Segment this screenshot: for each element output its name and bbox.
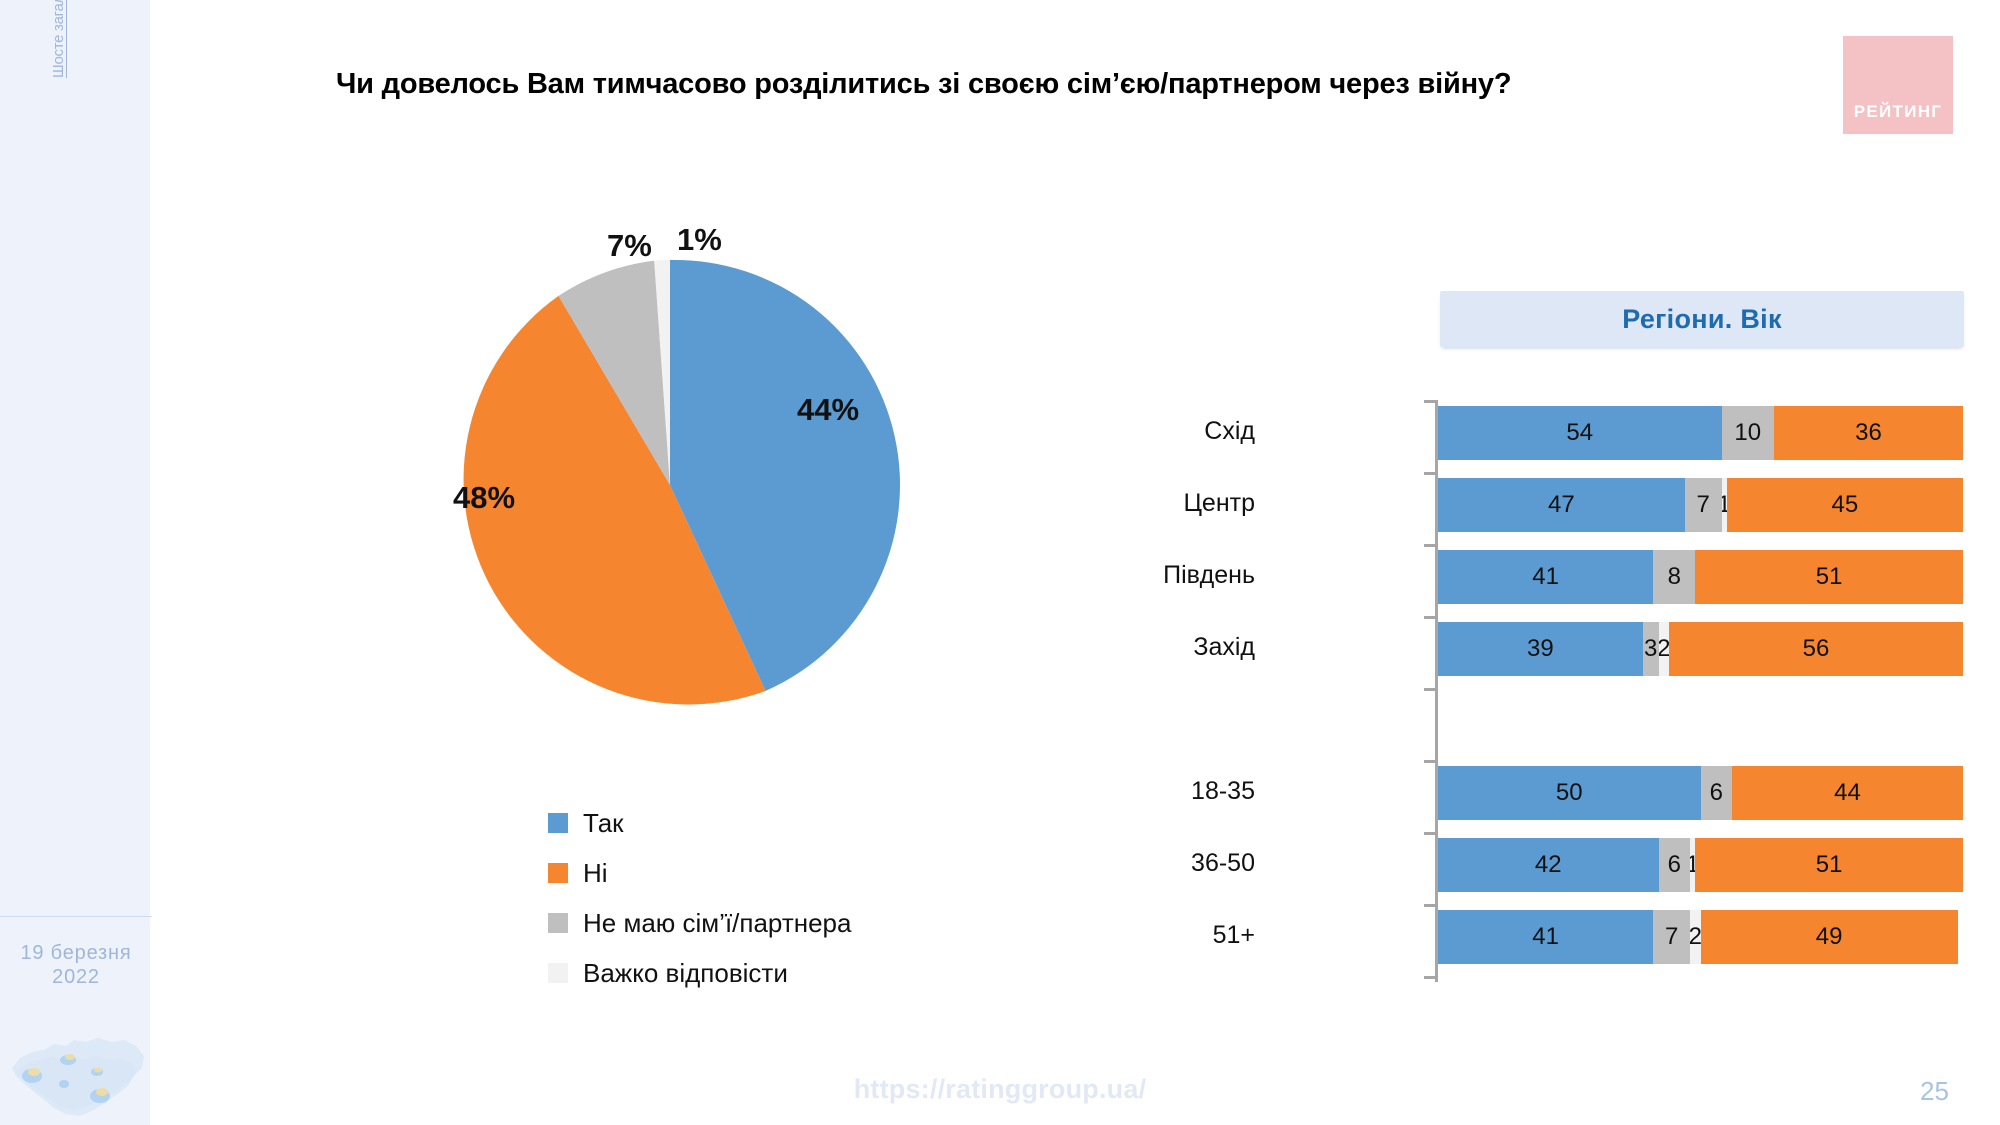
bar-row-label: Південь	[995, 561, 1255, 590]
bar-row-label: 36-50	[995, 849, 1255, 878]
regions-age-bar-chart: Схід541036Центр477145Південь41851Захід39…	[1300, 400, 2000, 1000]
bar-segment: 45	[1727, 478, 1963, 532]
legend-swatch-no-family	[548, 913, 568, 933]
bar-segment: 56	[1669, 622, 1963, 676]
bar-segment: 44	[1732, 766, 1963, 820]
bar-segment-value: 7	[1696, 491, 1709, 519]
bar-segment-value: 42	[1535, 851, 1562, 879]
bar-segment-value: 6	[1710, 779, 1723, 807]
bar-row-label: 51+	[995, 921, 1255, 950]
bar-row-label: 18-35	[995, 777, 1255, 806]
bar-row: Центр477145	[1438, 478, 1963, 532]
bar-segment-value: 41	[1532, 923, 1559, 951]
footer-url[interactable]: https://ratinggroup.ua/	[0, 1074, 2000, 1105]
bar-segment-value: 2	[1659, 635, 1670, 663]
slide-canvas: Шосте загальнонаціональне опитування: ад…	[0, 0, 2000, 1125]
pie-legend: Так Ні Не маю сім’ї/партнера Важко відпо…	[548, 798, 948, 998]
bar-segment: 6	[1659, 838, 1691, 892]
bar-segment-value: 49	[1816, 923, 1843, 951]
legend-label-hard-to-say: Важко відповісти	[583, 958, 788, 989]
pie-label-no: 48%	[453, 480, 515, 516]
bar-segment: 49	[1701, 910, 1958, 964]
bar-segment: 8	[1653, 550, 1695, 604]
bar-segment-value: 51	[1816, 563, 1843, 591]
legend-item-no-family: Не маю сім’ї/партнера	[548, 898, 948, 948]
date-day-month: 19 березня	[0, 942, 152, 966]
left-sidebar: Шосте загальнонаціональне опитування: ад…	[0, 0, 152, 1125]
legend-label-no-family: Не маю сім’ї/партнера	[583, 908, 851, 939]
y-axis-tick	[1424, 616, 1435, 619]
bar-segment: 10	[1722, 406, 1775, 460]
bar-row: 18-3550644	[1438, 766, 1963, 820]
bar-row: 51+417249	[1438, 910, 1963, 964]
legend-swatch-hard-to-say	[548, 963, 568, 983]
bar-segment-value: 8	[1668, 563, 1681, 591]
bar-segment-value: 36	[1855, 419, 1882, 447]
bar-segment: 2	[1690, 910, 1701, 964]
pie-label-yes: 44%	[797, 392, 859, 428]
panel-header-text: Регіони. Вік	[1622, 304, 1782, 335]
bar-row: Схід541036	[1438, 406, 1963, 460]
y-axis-tick	[1424, 832, 1435, 835]
bar-segment: 36	[1774, 406, 1963, 460]
bar-segment-value: 47	[1548, 491, 1575, 519]
bar-row: Південь41851	[1438, 550, 1963, 604]
bar-segment-value: 7	[1665, 923, 1678, 951]
bar-segment-value: 41	[1532, 563, 1559, 591]
y-axis-tick	[1424, 472, 1435, 475]
page-title: Чи довелось Вам тимчасово розділитись зі…	[336, 68, 1776, 101]
bar-segment-value: 51	[1816, 851, 1843, 879]
survey-caption: Шосте загальнонаціональне опитування: ад…	[50, 0, 67, 78]
legend-label-no: Ні	[583, 858, 608, 889]
bar-segment: 42	[1438, 838, 1659, 892]
bar-segment: 54	[1438, 406, 1722, 460]
bar-segment: 7	[1653, 910, 1690, 964]
y-axis-tick	[1424, 904, 1435, 907]
bar-segment-value: 3	[1644, 635, 1657, 663]
pie-label-hard-to-say: 1%	[677, 222, 722, 258]
bar-segment: 6	[1701, 766, 1733, 820]
pie-chart: 44% 48% 7% 1%	[435, 250, 905, 720]
bar-segment-value: 10	[1734, 419, 1761, 447]
y-axis-tick	[1424, 760, 1435, 763]
page-number: 25	[1920, 1076, 1949, 1107]
sidebar-divider	[0, 916, 152, 917]
legend-label-yes: Так	[583, 808, 624, 839]
bar-row-label: Захід	[995, 633, 1255, 662]
bar-segment: 51	[1695, 550, 1963, 604]
y-axis-tick	[1424, 976, 1435, 979]
logo-text: РЕЙТИНГ	[1854, 102, 1943, 122]
pie-label-no-family: 7%	[607, 228, 652, 264]
bar-segment-value: 50	[1556, 779, 1583, 807]
bar-segment: 41	[1438, 910, 1653, 964]
regions-age-panel-header: Регіони. Вік	[1440, 291, 1964, 347]
bar-segment: 7	[1685, 478, 1722, 532]
bar-row: Захід393256	[1438, 622, 1963, 676]
bar-segment-value: 6	[1668, 851, 1681, 879]
bar-segment: 47	[1438, 478, 1685, 532]
bar-segment-value: 39	[1527, 635, 1554, 663]
bar-segment-value: 44	[1834, 779, 1861, 807]
bar-segment-value: 45	[1832, 491, 1859, 519]
bar-segment: 50	[1438, 766, 1701, 820]
bar-segment-value: 2	[1690, 923, 1701, 951]
legend-swatch-no	[548, 863, 568, 883]
ukraine-map-icon	[2, 1020, 152, 1125]
bar-row-label: Центр	[995, 489, 1255, 518]
legend-swatch-yes	[548, 813, 568, 833]
bar-segment: 2	[1659, 622, 1670, 676]
bar-segment: 39	[1438, 622, 1643, 676]
date-year: 2022	[0, 966, 152, 990]
y-axis-tick	[1424, 400, 1435, 403]
bar-segment: 3	[1643, 622, 1659, 676]
bar-segment-value: 54	[1566, 419, 1593, 447]
y-axis-tick	[1424, 544, 1435, 547]
bar-segment-value: 56	[1803, 635, 1830, 663]
bar-row-label: Схід	[995, 417, 1255, 446]
y-axis-tick	[1424, 688, 1435, 691]
bar-segment: 51	[1695, 838, 1963, 892]
publication-date: 19 березня 2022	[0, 942, 152, 989]
legend-item-no: Ні	[548, 848, 948, 898]
rating-logo: РЕЙТИНГ	[1843, 36, 1953, 134]
legend-item-hard-to-say: Важко відповісти	[548, 948, 948, 998]
bar-segment: 41	[1438, 550, 1653, 604]
bar-row: 36-50426151	[1438, 838, 1963, 892]
legend-item-yes: Так	[548, 798, 948, 848]
